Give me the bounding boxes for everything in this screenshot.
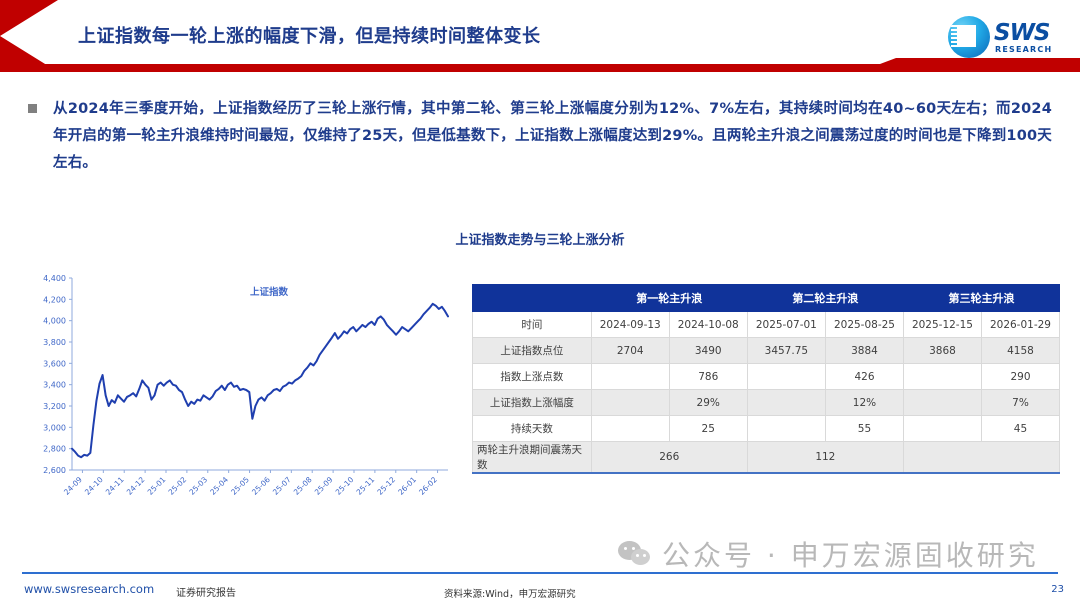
chart-legend-label: 上证指数 [250, 284, 288, 298]
footer-subtitle: 证券研究报告 [176, 584, 236, 599]
table-cell: 3490 [669, 338, 747, 364]
table-row: 上证指数上涨幅度29%12%7% [473, 390, 1060, 416]
y-axis-tick-label: 3,200 [43, 402, 66, 411]
table-cell [747, 364, 825, 390]
table-corner-cell [473, 285, 592, 312]
x-axis-tick-label: 25-04 [208, 475, 230, 497]
table-cell: 290 [981, 364, 1059, 390]
x-axis-tick-label: 24-12 [125, 475, 147, 497]
rally-analysis-table: 第一轮主升浪 第二轮主升浪 第三轮主升浪 时间2024-09-132024-10… [472, 284, 1060, 474]
y-axis-tick-label: 3,000 [43, 423, 66, 432]
footer-divider [22, 572, 1058, 574]
bullet-paragraph: 从2024年三季度开始，上证指数经历了三轮上涨行情，其中第二轮、第三轮上涨幅度分… [28, 96, 1052, 177]
x-axis-tick-label: 24-09 [62, 475, 84, 497]
header-red-band [0, 58, 1080, 72]
sws-logo: SWS RESEARCH [948, 14, 1066, 60]
table-cell: 2024-10-08 [669, 312, 747, 338]
wechat-icon [618, 541, 652, 567]
x-axis-tick-label: 25-02 [167, 475, 189, 497]
bullet-paragraph-text: 从2024年三季度开始，上证指数经历了三轮上涨行情，其中第二轮、第三轮上涨幅度分… [53, 96, 1052, 177]
y-axis-tick-label: 4,400 [43, 274, 66, 283]
table-cell [903, 390, 981, 416]
table-cell: 2025-12-15 [903, 312, 981, 338]
table-cell [903, 364, 981, 390]
page-title: 上证指数每一轮上涨的幅度下滑，但是持续时间整体变长 [78, 22, 858, 48]
bullet-square-icon [28, 104, 37, 113]
table-cell: 2025-08-25 [825, 312, 903, 338]
table-body: 时间2024-09-132024-10-082025-07-012025-08-… [473, 312, 1060, 474]
table-footer-cell: 112 [747, 442, 903, 474]
y-axis-tick-label: 3,800 [43, 338, 66, 347]
table-cell [591, 390, 669, 416]
table-group-header-row: 第一轮主升浪 第二轮主升浪 第三轮主升浪 [473, 285, 1060, 312]
x-axis-tick-label: 25-09 [313, 475, 335, 497]
table-row: 指数上涨点数786426290 [473, 364, 1060, 390]
page-header: 上证指数每一轮上涨的幅度下滑，但是持续时间整体变长 SWS RESEARCH [0, 0, 1080, 78]
x-axis-tick-label: 25-01 [146, 475, 168, 497]
table-cell: 25 [669, 416, 747, 442]
sws-logo-subtext: RESEARCH [995, 45, 1052, 54]
x-axis-tick-label: 25-06 [250, 475, 272, 497]
wechat-watermark: 公众号 · 申万宏源固收研究 [618, 534, 1039, 574]
table-group-header-1: 第一轮主升浪 [591, 285, 747, 312]
table-cell [591, 416, 669, 442]
table-cell: 2026-01-29 [981, 312, 1059, 338]
table-cell: 4158 [981, 338, 1059, 364]
table-group-header-2: 第二轮主升浪 [747, 285, 903, 312]
table-header: 第一轮主升浪 第二轮主升浪 第三轮主升浪 [473, 285, 1060, 312]
chart-canvas: 2,6002,8003,0003,2003,4003,6003,8004,000… [24, 270, 454, 520]
table-cell: 3457.75 [747, 338, 825, 364]
table-cell: 426 [825, 364, 903, 390]
sws-logo-mark-icon [948, 16, 990, 58]
figure-title: 上证指数走势与三轮上涨分析 [0, 229, 1080, 248]
x-axis-tick-label: 25-12 [375, 475, 397, 497]
footer-source-note: 资料来源:Wind，申万宏源研究 [444, 586, 576, 600]
table-cell: 2025-07-01 [747, 312, 825, 338]
x-axis-tick-label: 25-05 [229, 475, 251, 497]
wechat-watermark-text: 公众号 · 申万宏源固收研究 [662, 534, 1039, 574]
x-axis-tick-label: 25-11 [355, 475, 377, 497]
table-cell: 3884 [825, 338, 903, 364]
x-axis-tick-label: 25-10 [334, 475, 356, 497]
table-cell: 2024-09-13 [591, 312, 669, 338]
table-cell: 45 [981, 416, 1059, 442]
table-row: 上证指数点位270434903457.75388438684158 [473, 338, 1060, 364]
x-axis-tick-label: 24-11 [104, 475, 126, 497]
y-axis-tick-label: 4,000 [43, 317, 66, 326]
table-row: 持续天数255545 [473, 416, 1060, 442]
x-axis-tick-label: 25-07 [271, 475, 293, 497]
table-cell: 786 [669, 364, 747, 390]
table-cell: 29% [669, 390, 747, 416]
footer-website-link[interactable]: www.swsresearch.com [24, 582, 154, 596]
table-cell [591, 364, 669, 390]
table-footer-label: 两轮主升浪期间震荡天数 [473, 442, 592, 474]
footer-page-number: 23 [1051, 584, 1064, 595]
table-row-label: 时间 [473, 312, 592, 338]
y-axis-tick-label: 3,600 [43, 359, 66, 368]
y-axis-tick-label: 2,600 [43, 466, 66, 475]
y-axis-tick-label: 4,200 [43, 295, 66, 304]
x-axis-tick-label: 25-08 [292, 475, 314, 497]
table-cell [747, 416, 825, 442]
y-axis-tick-label: 3,400 [43, 381, 66, 390]
table-cell [747, 390, 825, 416]
table-footer-cell: 266 [591, 442, 747, 474]
table-cell: 12% [825, 390, 903, 416]
index-line-chart: 2,6002,8003,0003,2003,4003,6003,8004,000… [24, 270, 454, 520]
sws-logo-text: SWS [994, 20, 1050, 46]
x-axis-tick-label: 25-03 [187, 475, 209, 497]
table-footer-row: 两轮主升浪期间震荡天数266112 [473, 442, 1060, 474]
table-cell: 55 [825, 416, 903, 442]
table-row: 时间2024-09-132024-10-082025-07-012025-08-… [473, 312, 1060, 338]
table-cell: 3868 [903, 338, 981, 364]
table-group-header-3: 第三轮主升浪 [903, 285, 1059, 312]
x-axis-tick-label: 24-10 [83, 475, 105, 497]
table-row-label: 上证指数点位 [473, 338, 592, 364]
table-row-label: 上证指数上涨幅度 [473, 390, 592, 416]
table-cell: 7% [981, 390, 1059, 416]
table-footer-cell-empty [903, 442, 1059, 474]
x-axis-tick-label: 26-02 [417, 475, 439, 497]
table-row-label: 持续天数 [473, 416, 592, 442]
table-cell [903, 416, 981, 442]
y-axis-tick-label: 2,800 [43, 445, 66, 454]
table-cell: 2704 [591, 338, 669, 364]
chart-series-line [72, 304, 448, 457]
x-axis-tick-label: 26-01 [396, 475, 418, 497]
table-row-label: 指数上涨点数 [473, 364, 592, 390]
